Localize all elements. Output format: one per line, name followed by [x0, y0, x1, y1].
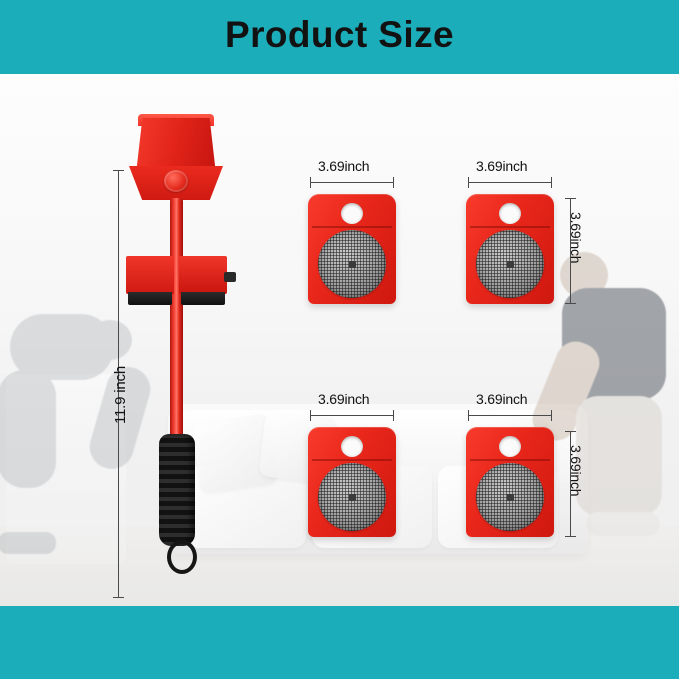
- pad-disc-center: [349, 261, 356, 268]
- dimension-label-pad1-width: 3.69inch: [318, 158, 369, 174]
- lifter-crossbar-right: [179, 256, 227, 294]
- pad-seam: [470, 459, 550, 461]
- pad-mounting-hole-icon: [499, 203, 521, 224]
- lifter-pivot-boss-icon: [164, 170, 188, 192]
- slider-pad-2: [466, 194, 554, 304]
- dimension-label-pad2-width: 3.69inch: [476, 158, 527, 174]
- dimension-label-pad4-width: 3.69inch: [476, 391, 527, 407]
- pad-disc-center: [507, 494, 514, 501]
- lifter-crossbar-left: [126, 256, 174, 294]
- dimension-line-pad4-width: [468, 415, 552, 416]
- lifter-side-knob: [224, 272, 236, 282]
- dimension-label-pad2-height: 3.69inch: [568, 212, 584, 263]
- pad-disc-center: [507, 261, 514, 268]
- pad-mounting-hole-icon: [341, 203, 363, 224]
- header-banner: Product Size: [0, 0, 679, 74]
- dimension-line-pad3-width: [310, 415, 394, 416]
- pad-textured-disc: [318, 230, 386, 298]
- background-person-right: [536, 244, 679, 574]
- furniture-lifter-tool: [120, 114, 260, 584]
- slider-pad-4: [466, 427, 554, 537]
- dimension-label-pad4-height: 3.69inch: [568, 445, 584, 496]
- lifter-grip: [159, 434, 195, 546]
- slider-pad-1: [308, 194, 396, 304]
- pad-seam: [470, 226, 550, 228]
- product-photo-stage: 11.9 inch 3.69inch 3.69inch 3.69inch: [0, 74, 679, 606]
- product-size-infographic: Product Size: [0, 0, 679, 679]
- pad-disc-center: [349, 494, 356, 501]
- slider-pad-3: [308, 427, 396, 537]
- lifter-rubber-pad-left: [128, 292, 172, 305]
- lifter-hanging-ring-icon: [167, 540, 197, 574]
- lifter-rubber-pad-right: [181, 292, 225, 305]
- pad-seam: [312, 459, 392, 461]
- footer-banner: [0, 606, 679, 679]
- pad-textured-disc: [476, 463, 544, 531]
- pad-seam: [312, 226, 392, 228]
- dimension-line-pad2-width: [468, 182, 552, 183]
- page-title: Product Size: [0, 0, 679, 74]
- pad-mounting-hole-icon: [499, 436, 521, 457]
- pad-mounting-hole-icon: [341, 436, 363, 457]
- pad-textured-disc: [318, 463, 386, 531]
- dimension-line-pad1-width: [310, 182, 394, 183]
- pad-textured-disc: [476, 230, 544, 298]
- lifter-head: [136, 118, 216, 174]
- dimension-label-lifter-height: 11.9 inch: [112, 366, 129, 424]
- dimension-label-pad3-width: 3.69inch: [318, 391, 369, 407]
